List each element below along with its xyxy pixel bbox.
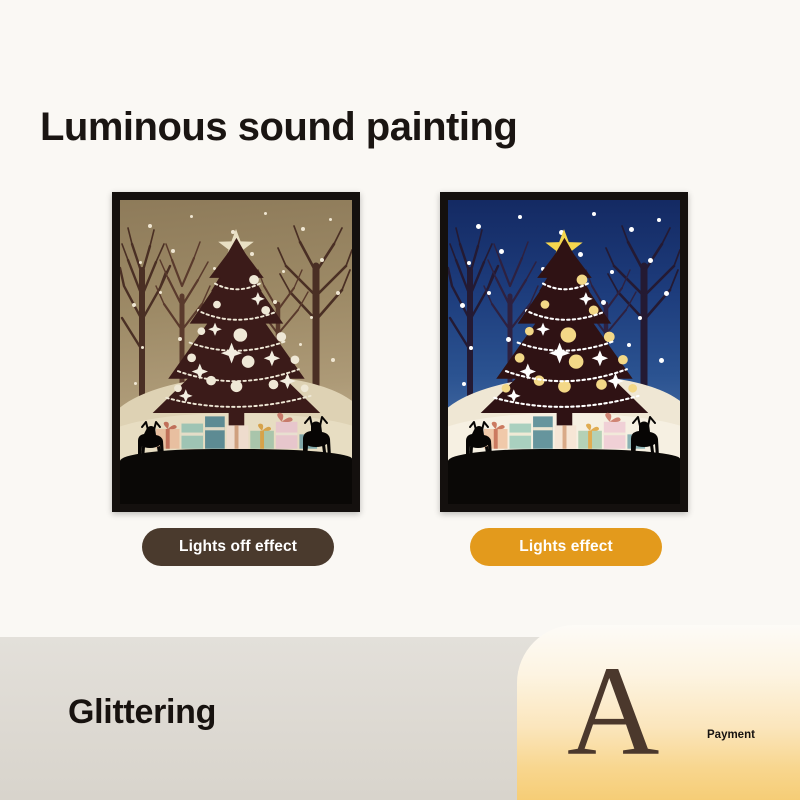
foreground-base <box>120 471 352 504</box>
payment-panel[interactable]: A Payment <box>517 625 800 800</box>
gift-boxes <box>152 411 319 451</box>
page-root: Luminous sound painting <box>0 0 800 800</box>
artwork-lights-off <box>120 200 352 504</box>
preview-card-lights-off[interactable] <box>112 192 360 512</box>
glittering-headline: Glittering <box>68 693 216 732</box>
payment-monogram: A <box>567 647 659 775</box>
lights-effect-button[interactable]: Lights effect <box>470 528 662 566</box>
lights-off-effect-button[interactable]: Lights off effect <box>142 528 334 566</box>
gift-boxes <box>480 411 647 451</box>
artwork-lights-on <box>448 200 680 504</box>
foreground-base <box>448 471 680 504</box>
payment-label: Payment <box>707 729 755 741</box>
preview-card-lights-on[interactable] <box>440 192 688 512</box>
page-title: Luminous sound painting <box>40 105 517 149</box>
